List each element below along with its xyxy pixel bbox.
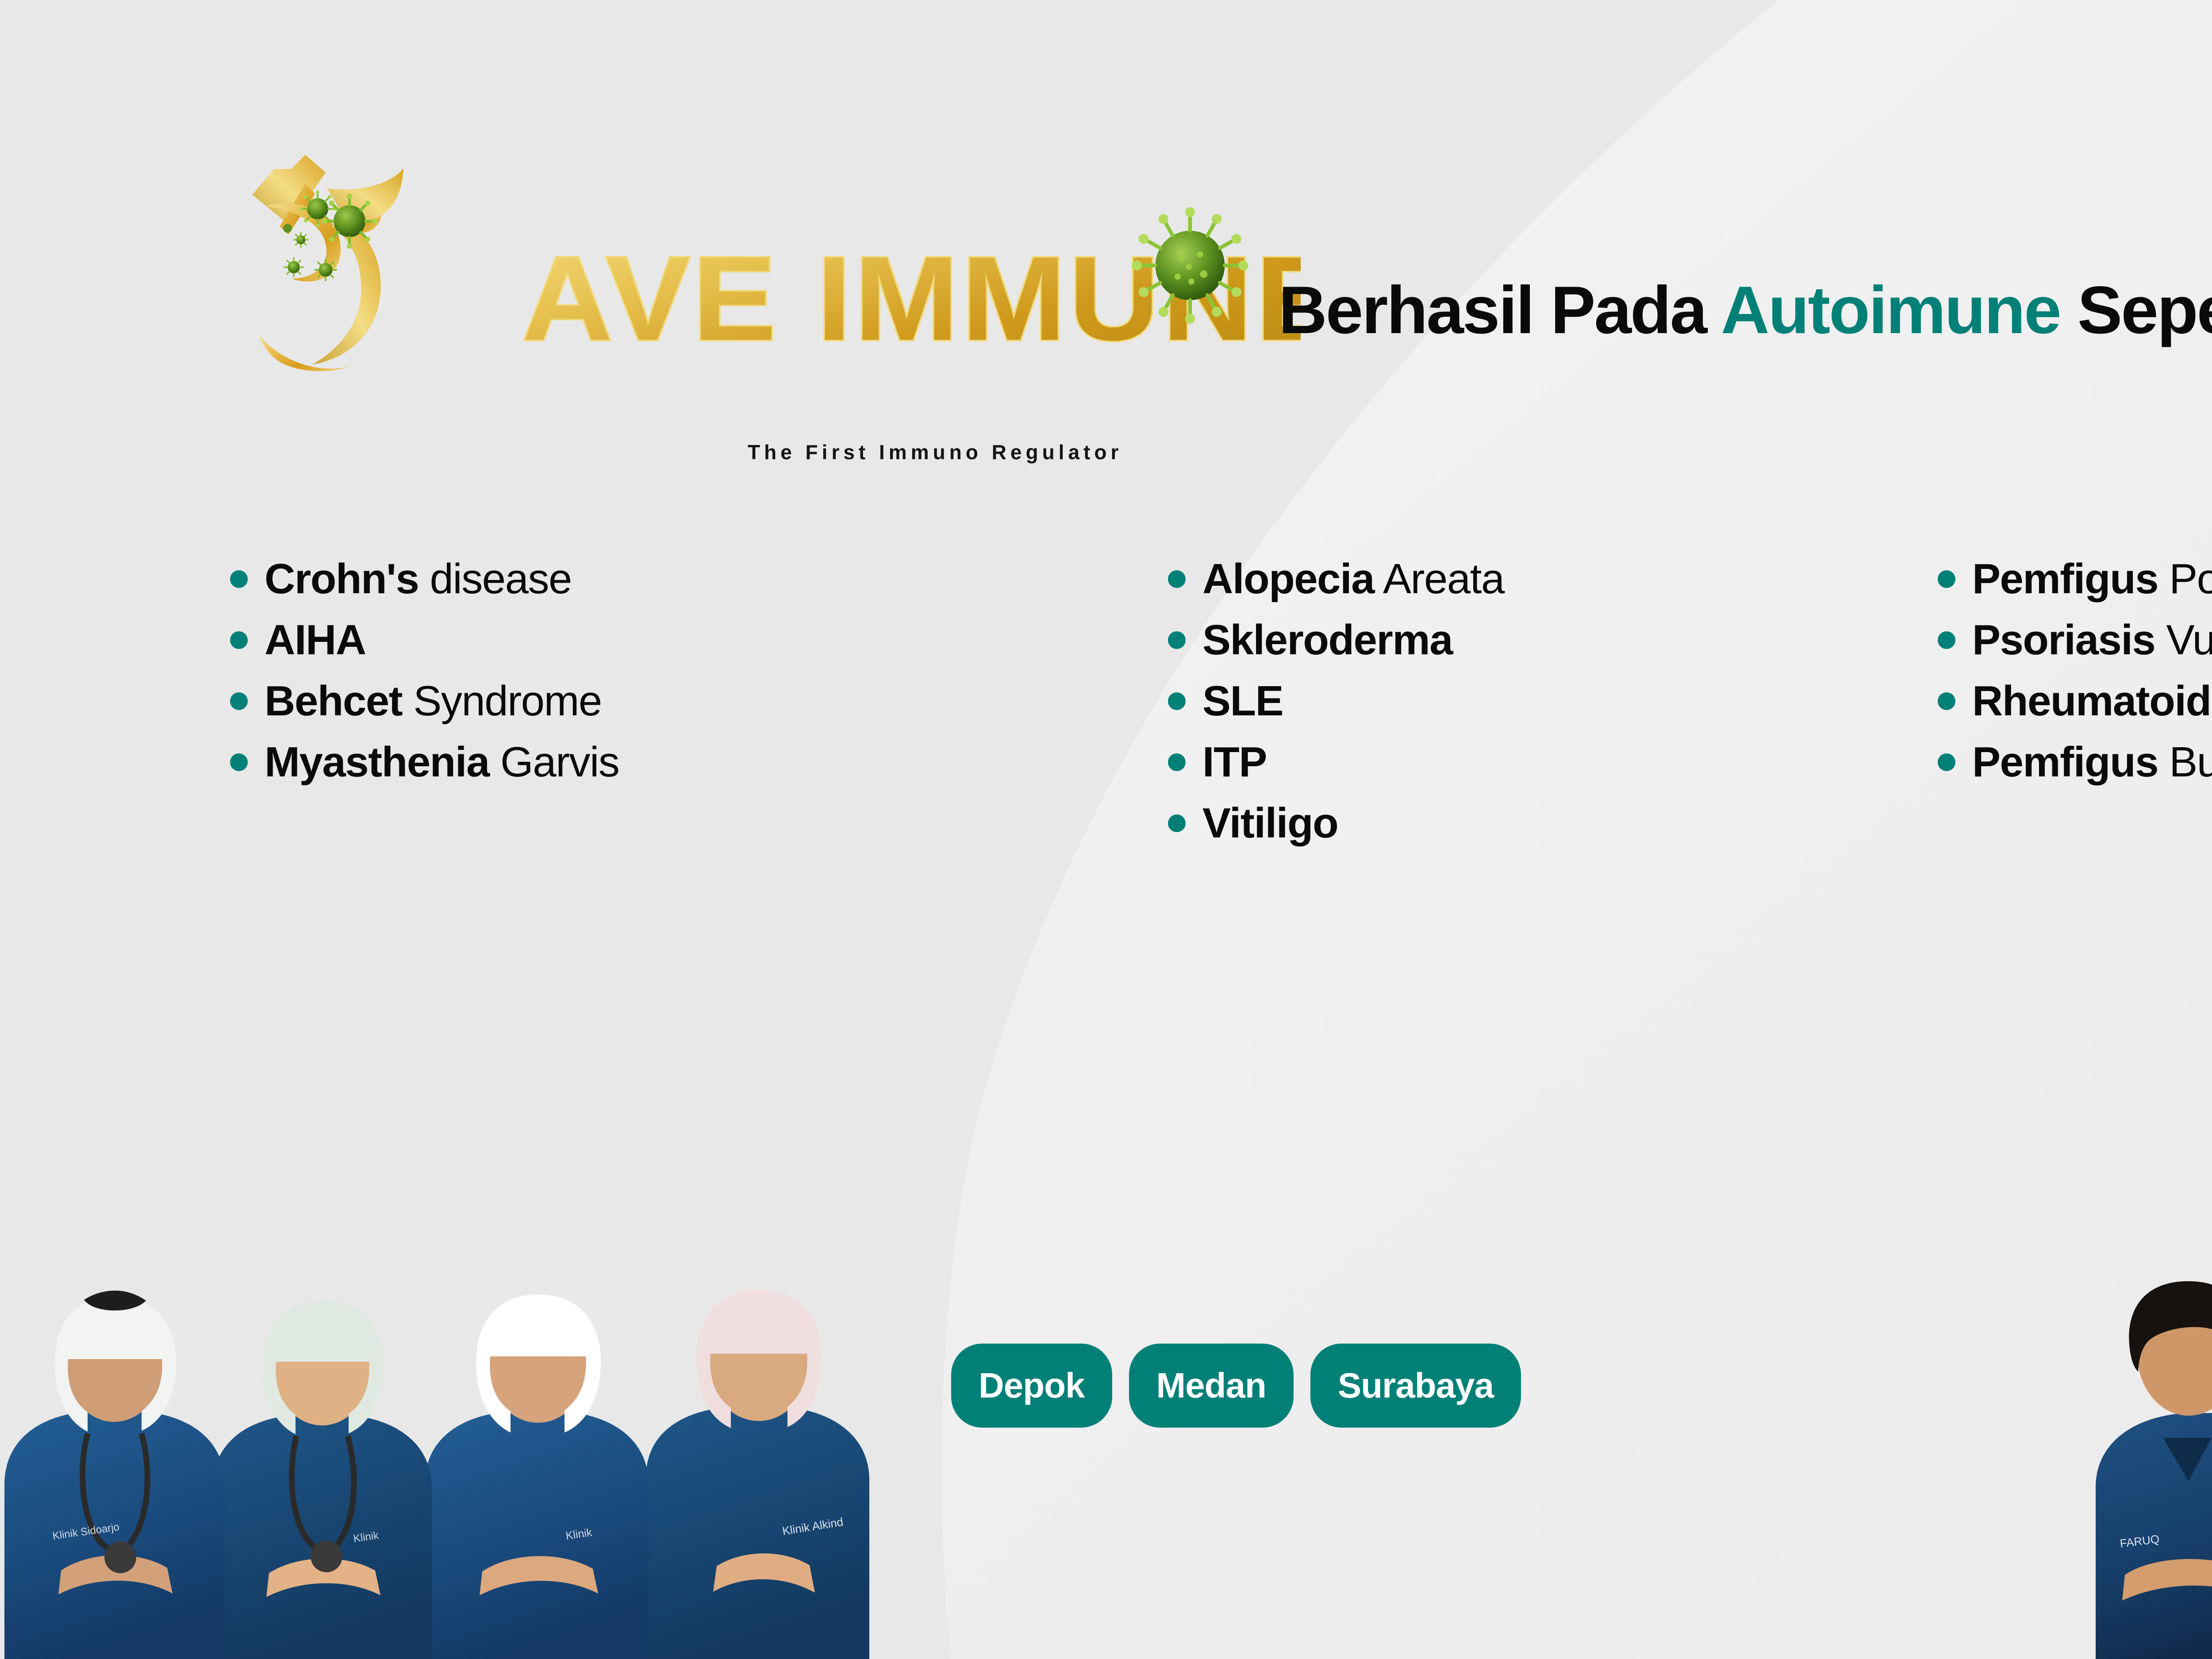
disease-name-primary: AIHA: [265, 616, 366, 664]
disease-name: Behcet Syndrome: [265, 680, 602, 722]
virus-particle-icon-large: [1128, 204, 1252, 327]
disease-name-secondary: Areata: [1374, 555, 1504, 603]
disease-name-primary: Alopecia: [1202, 555, 1374, 603]
staff-member: FARUQ Klinik: [2096, 1281, 2212, 1659]
headline-suffix: Seperti :: [2078, 273, 2212, 348]
disease-list-item: ITP: [1168, 732, 1876, 793]
disease-name: Rheumatoid Arthritis: [1972, 680, 2212, 722]
disease-list: Crohn's diseaseAIHABehcet SyndromeMyasth…: [0, 549, 2212, 1124]
staff-member: Klinik: [425, 1294, 649, 1659]
disease-list-item: AIHA: [230, 610, 1071, 671]
city-button-surabaya[interactable]: Surabaya: [1310, 1344, 1521, 1428]
disease-name-primary: Crohn's: [265, 555, 419, 603]
disease-name: Pemfigus Polisceae: [1972, 558, 2212, 600]
disease-name-primary: Behcet: [265, 677, 402, 725]
disease-name-primary: Rheumatoid: [1972, 677, 2211, 725]
logo-mark-icon: [239, 102, 540, 376]
disease-name-secondary: Garvis: [489, 738, 619, 786]
disease-name: Pemfigus Bullosa: [1972, 741, 2212, 783]
bullet-icon: [1938, 570, 1955, 588]
disease-list-item: SLE: [1168, 671, 1876, 732]
disease-name-secondary: Bullosa: [2158, 738, 2212, 786]
disease-name-primary: ITP: [1202, 738, 1267, 786]
disease-name: Myasthenia Garvis: [265, 741, 619, 783]
disease-name-primary: Psoriasis: [1972, 616, 2155, 664]
bullet-icon: [1168, 631, 1186, 649]
disease-name-secondary: Polisceae: [2158, 555, 2212, 603]
bullet-icon: [1168, 692, 1186, 710]
bullet-icon: [1938, 631, 1955, 649]
bullet-icon: [1168, 570, 1186, 588]
disease-name: Psoriasis Vulgaris: [1972, 619, 2212, 661]
disease-name: Alopecia Areata: [1202, 558, 1504, 600]
disease-name-secondary: Vulgaris: [2155, 616, 2212, 664]
disease-name: SLE: [1202, 680, 1283, 722]
staff-member: Klinik Alkind: [646, 1290, 869, 1659]
disease-list-item: Pemfigus Bullosa: [1938, 732, 2212, 793]
disease-list-item: Rheumatoid Arthritis: [1938, 671, 2212, 732]
disease-list-item: Vitiligo: [1168, 793, 1876, 854]
city-button-depok[interactable]: Depok: [951, 1344, 1112, 1428]
city-button-group: DepokMedanSurabaya: [951, 1344, 1521, 1428]
disease-list-item: Pemfigus Polisceae: [1938, 549, 2212, 610]
brand-logo: AVE IMMUNE The First Immuno Regulator: [239, 102, 1301, 389]
page-title: Berhasil Pada Autoimune Seperti :: [1279, 276, 2212, 344]
disease-list-item: Myasthenia Garvis: [230, 732, 1071, 793]
bullet-icon: [230, 570, 248, 588]
female-medical-staff-group-photo: Klinik Alkind Klinik Klinik: [0, 1168, 929, 1659]
headline-accent: Autoimune: [1721, 273, 2060, 348]
disease-column-3: Pemfigus PolisceaePsoriasis VulgarisRheu…: [1938, 549, 2212, 793]
logo-tagline: The First Immuno Regulator: [748, 440, 1301, 464]
bullet-icon: [230, 692, 248, 710]
disease-name: Crohn's disease: [265, 558, 572, 600]
bullet-icon: [1938, 692, 1955, 710]
disease-column-1: Crohn's diseaseAIHABehcet SyndromeMyasth…: [230, 549, 1071, 793]
disease-name: AIHA: [265, 619, 366, 661]
city-button-medan[interactable]: Medan: [1129, 1344, 1294, 1428]
disease-name: ITP: [1202, 741, 1267, 783]
bullet-icon: [230, 631, 248, 649]
figure-torso: [312, 220, 381, 365]
stethoscope-chestpiece: [104, 1541, 136, 1573]
disease-name-primary: Skleroderma: [1202, 616, 1452, 664]
bullet-icon: [1938, 753, 1955, 771]
disease-name-primary: Pemfigus: [1972, 555, 2158, 603]
bullet-icon: [230, 753, 248, 771]
disease-list-item: Psoriasis Vulgaris: [1938, 610, 2212, 671]
headline-prefix: Berhasil Pada: [1279, 273, 1706, 348]
disease-list-item: Crohn's disease: [230, 549, 1071, 610]
disease-list-item: Behcet Syndrome: [230, 671, 1071, 732]
disease-list-item: Alopecia Areata: [1168, 549, 1876, 610]
staff-member: Klinik: [212, 1301, 432, 1659]
disease-name-primary: Myasthenia: [265, 738, 489, 786]
bullet-icon: [1168, 753, 1186, 771]
disease-list-item: Skleroderma: [1168, 610, 1876, 671]
disease-name-secondary: disease: [419, 555, 572, 603]
disease-name-secondary: Syndrome: [402, 677, 602, 725]
mixed-medical-staff-group-photo: Klinik Alkind Indah L Klinik Alkind FARU…: [2038, 1164, 2212, 1659]
disease-name-primary: Vitiligo: [1202, 799, 1338, 847]
disease-name: Skleroderma: [1202, 619, 1452, 661]
bullet-icon: [1168, 814, 1186, 832]
disease-name: Vitiligo: [1202, 802, 1338, 845]
disease-column-2: Alopecia AreataSklerodermaSLEITPVitiligo: [1168, 549, 1876, 854]
staff-member: Klinik Sidoarjo: [4, 1290, 225, 1659]
stethoscope-chestpiece: [311, 1540, 342, 1572]
disease-name-primary: Pemfigus: [1972, 738, 2158, 786]
disease-name-primary: SLE: [1202, 677, 1283, 725]
